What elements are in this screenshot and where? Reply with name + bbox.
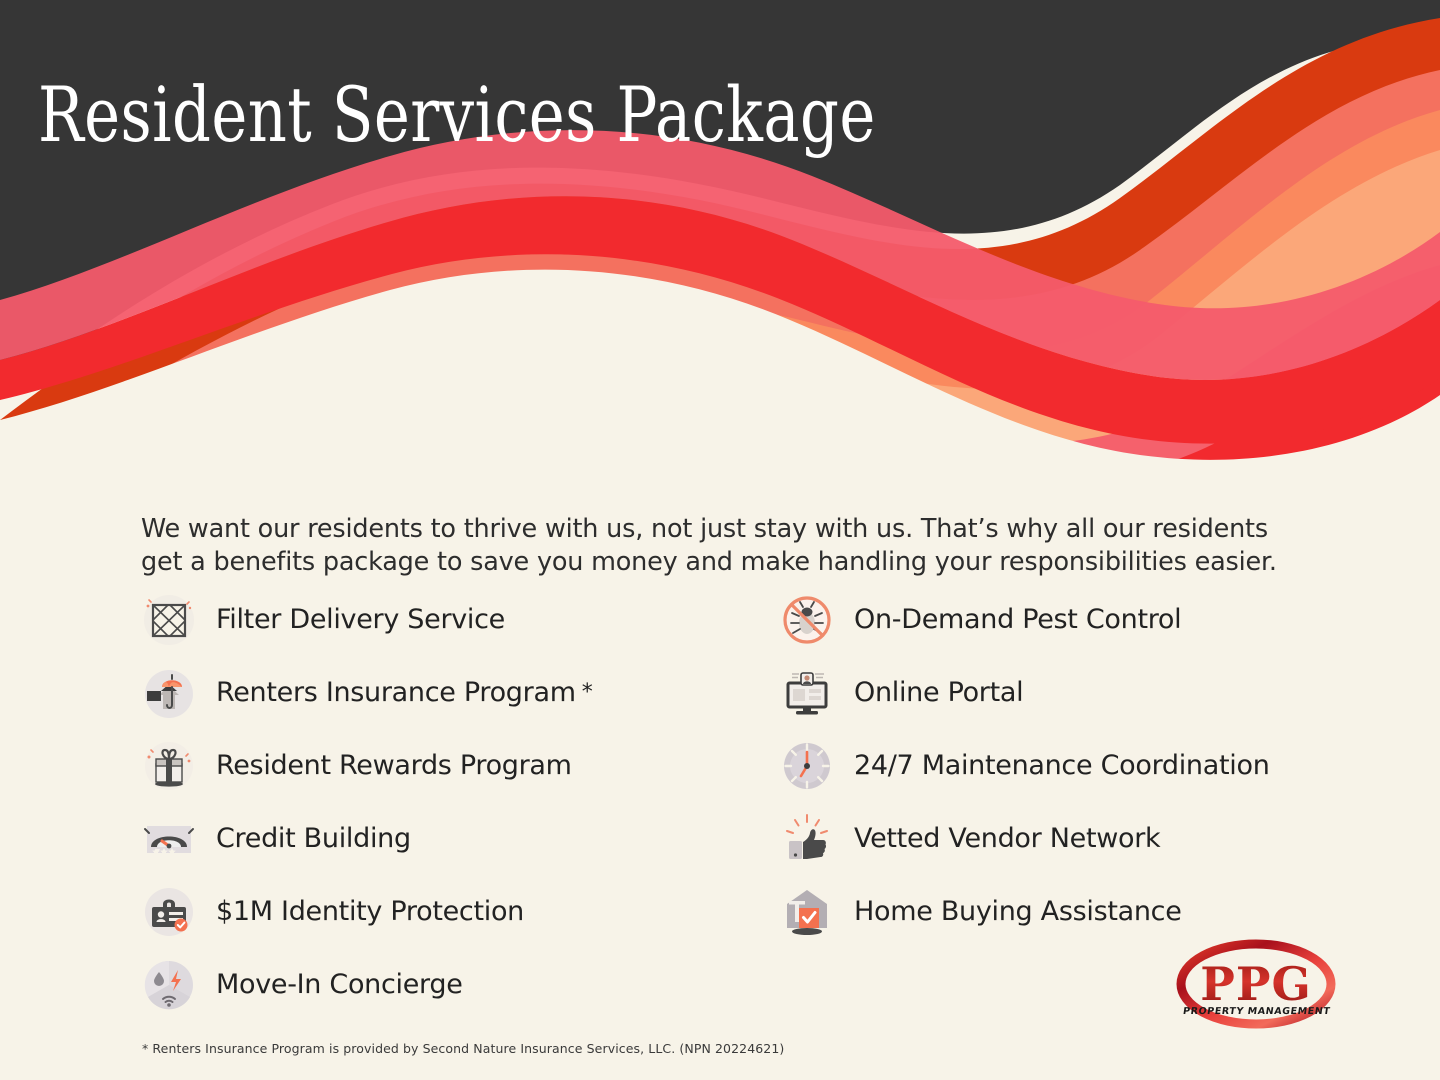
benefit-label: Renters Insurance Program [216, 677, 576, 708]
benefit-label: Home Buying Assistance [854, 896, 1182, 927]
intro-paragraph: We want our residents to thrive with us,… [141, 513, 1311, 579]
benefit-item-renters-insurance-program[interactable]: Renters Insurance Program * [141, 656, 761, 729]
benefit-label: $1M Identity Protection [216, 896, 524, 927]
benefit-item-online-portal[interactable]: Online Portal [779, 656, 1419, 729]
benefit-label: Resident Rewards Program [216, 750, 572, 781]
air-filter-icon [141, 592, 197, 648]
footnote-text: * Renters Insurance Program is provided … [142, 1041, 784, 1056]
benefit-item-vetted-vendor-network[interactable]: Vetted Vendor Network [779, 802, 1419, 875]
monitor-portal-icon [779, 665, 835, 721]
thumbs-up-icon [779, 811, 835, 867]
benefit-label: Vetted Vendor Network [854, 823, 1160, 854]
utilities-concierge-icon [141, 957, 197, 1013]
benefit-label: On-Demand Pest Control [854, 604, 1181, 635]
page-title: Resident Services Package [38, 77, 876, 153]
benefit-footnote-marker: * [582, 680, 593, 705]
benefit-label: Filter Delivery Service [216, 604, 505, 635]
umbrella-house-icon [141, 665, 197, 721]
benefit-item-maintenance-coordination[interactable]: 24/7 Maintenance Coordination [779, 729, 1419, 802]
benefit-item-credit-building[interactable]: Credit Building [141, 802, 761, 875]
credit-gauge-icon [141, 811, 197, 867]
id-badge-shield-icon [141, 884, 197, 940]
benefit-item-move-in-concierge[interactable]: Move-In Concierge [141, 948, 761, 1021]
benefit-label: Credit Building [216, 823, 411, 854]
logo-tagline: PROPERTY MANAGEMENT [1182, 1006, 1331, 1017]
benefits-right-column: On-Demand Pest Control [779, 583, 1419, 948]
benefits-left-column: Filter Delivery Service [141, 583, 761, 1021]
slide-root: Resident Services Package We want our re… [0, 0, 1440, 1080]
ppg-logo: PPG PROPERTY MANAGEMENT [1172, 938, 1340, 1030]
logo-mark: PPG [1200, 957, 1311, 1011]
home-checkmark-icon [779, 884, 835, 940]
clock-icon [779, 738, 835, 794]
benefit-label: 24/7 Maintenance Coordination [854, 750, 1270, 781]
benefit-label: Move-In Concierge [216, 969, 463, 1000]
benefit-item-filter-delivery-service[interactable]: Filter Delivery Service [141, 583, 761, 656]
benefit-item-resident-rewards-program[interactable]: Resident Rewards Program [141, 729, 761, 802]
benefit-item-on-demand-pest-control[interactable]: On-Demand Pest Control [779, 583, 1419, 656]
no-pest-icon [779, 592, 835, 648]
benefit-label: Online Portal [854, 677, 1023, 708]
gift-box-icon [141, 738, 197, 794]
benefit-item-identity-protection[interactable]: $1M Identity Protection [141, 875, 761, 948]
